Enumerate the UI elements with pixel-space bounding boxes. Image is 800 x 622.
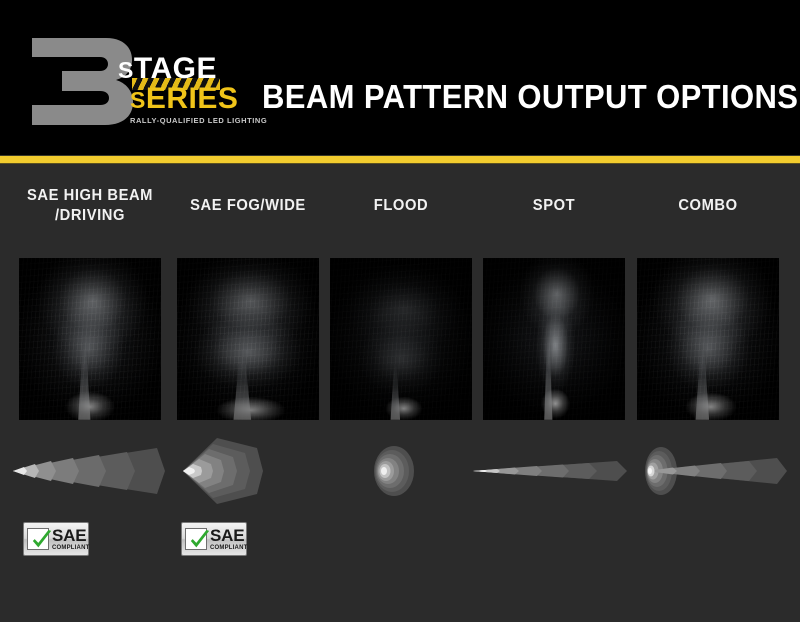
header-bar: STAGE SERIES RALLY-QUALIFIED LED LIGHTIN… xyxy=(0,0,800,155)
column-label-line1: SAE HIGH BEAM xyxy=(9,186,171,206)
beam-photo-sae-fog-wide xyxy=(177,258,319,420)
beam-photo-sae-high-beam-driving xyxy=(19,258,161,420)
column-label-combo: COMBO xyxy=(627,196,789,216)
sae-compliant-badge-2: SAE COMPLIANT xyxy=(181,522,247,556)
photo-vignette xyxy=(177,258,319,420)
checkbox-frame xyxy=(185,528,207,550)
column-label-line1: FLOOD xyxy=(320,196,482,216)
beam-photo-spot xyxy=(483,258,625,420)
beam-spread-diagram-sae-fog-wide xyxy=(165,436,331,506)
beam-option-sae-fog-wide: SAE FOG/WIDE xyxy=(177,164,319,622)
beam-option-flood: FLOOD xyxy=(330,164,472,622)
beam-spread-diagram-sae-high-beam-driving xyxy=(7,436,173,506)
checkbox-frame xyxy=(27,528,49,550)
beam-spread-diagram-combo xyxy=(625,436,791,506)
column-label-line2: /DRIVING xyxy=(9,206,171,226)
photo-vignette xyxy=(483,258,625,420)
logo-wordmark: STAGE SERIES RALLY-QUALIFIED LED LIGHTIN… xyxy=(106,40,266,130)
photo-vignette xyxy=(330,258,472,420)
beam-photo-flood xyxy=(330,258,472,420)
beam-spread-diagram-spot xyxy=(471,436,637,506)
column-label-line1: COMBO xyxy=(627,196,789,216)
column-label-sae-high-beam-driving: SAE HIGH BEAM /DRIVING xyxy=(9,186,171,226)
photo-vignette xyxy=(637,258,779,420)
badge-sae-label: SAE xyxy=(210,527,247,544)
stage-series-logo: STAGE SERIES RALLY-QUALIFIED LED LIGHTIN… xyxy=(28,32,243,130)
column-label-flood: FLOOD xyxy=(320,196,482,216)
logo-series-text: SERIES xyxy=(130,84,238,114)
page-title: BEAM PATTERN OUTPUT OPTIONS xyxy=(262,78,798,116)
badge-compliant-label: COMPLIANT xyxy=(52,545,89,551)
logo-stage-text: STAGE xyxy=(118,54,217,84)
photo-vignette xyxy=(19,258,161,420)
beam-option-combo: COMBO xyxy=(637,164,779,622)
header-divider-rule xyxy=(0,155,800,164)
beam-pattern-infographic: STAGE SERIES RALLY-QUALIFIED LED LIGHTIN… xyxy=(0,0,800,622)
beam-option-sae-high-beam-driving: SAE HIGH BEAM /DRIVING xyxy=(19,164,161,622)
column-label-sae-fog-wide: SAE FOG/WIDE xyxy=(167,196,329,216)
column-label-line1: SPOT xyxy=(473,196,635,216)
logo-tagline: RALLY-QUALIFIED LED LIGHTING xyxy=(130,116,267,125)
beam-photo-combo xyxy=(637,258,779,420)
sae-compliant-badge-1: SAE COMPLIANT xyxy=(23,522,89,556)
column-label-line1: SAE FOG/WIDE xyxy=(167,196,329,216)
column-label-spot: SPOT xyxy=(473,196,635,216)
green-check-icon xyxy=(189,530,211,552)
beam-spread-diagram-flood xyxy=(318,436,484,506)
badge-text-group: SAE COMPLIANT xyxy=(210,527,247,551)
badge-compliant-label: COMPLIANT xyxy=(210,545,247,551)
badge-sae-label: SAE xyxy=(52,527,89,544)
green-check-icon xyxy=(31,530,53,552)
badge-text-group: SAE COMPLIANT xyxy=(52,527,89,551)
beam-options-grid: SAE HIGH BEAM /DRIVING xyxy=(0,164,800,622)
beam-option-spot: SPOT xyxy=(483,164,625,622)
